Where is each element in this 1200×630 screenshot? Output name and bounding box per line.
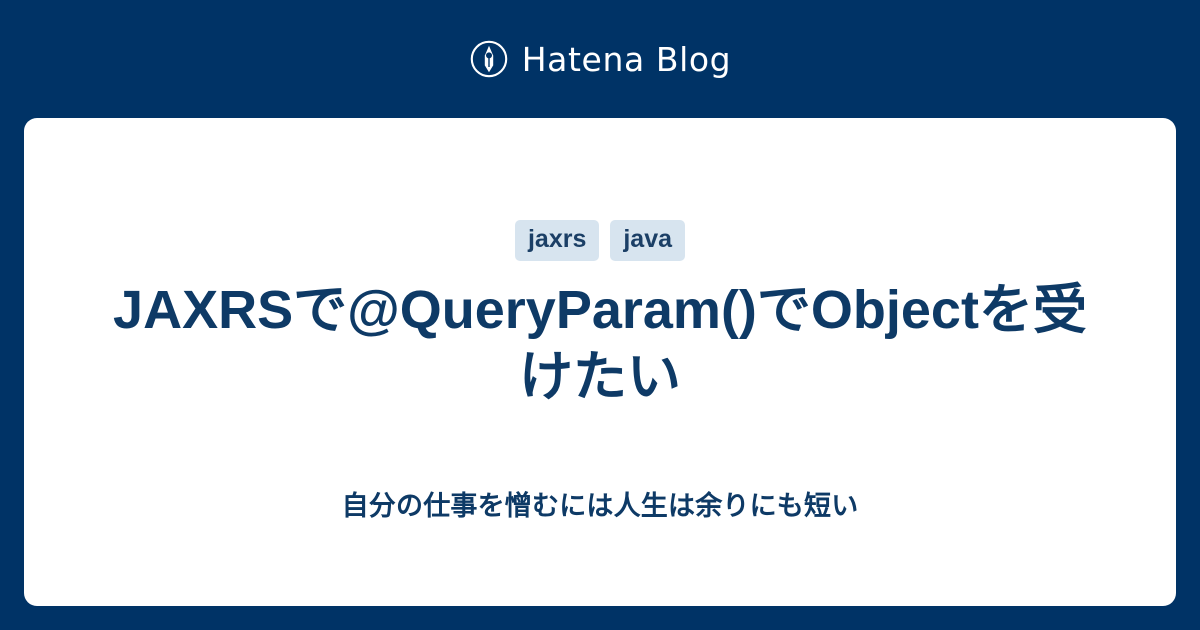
entry-tag-jaxrs[interactable]: jaxrs: [515, 220, 599, 261]
blog-subtitle: 自分の仕事を憎むには人生は余りにも短い: [302, 489, 899, 524]
fountain-pen-nib-circle-icon: [469, 39, 509, 79]
entry-title: JAXRSで@QueryParam()でObjectを受けたい: [40, 277, 1160, 411]
entry-tag-list: jaxrs java: [515, 220, 685, 261]
brand-name: Hatena Blog: [522, 43, 731, 76]
entry-card: jaxrs java JAXRSで@QueryParam()でObjectを受け…: [24, 118, 1176, 606]
hatena-blog-logo-lockup[interactable]: Hatena Blog: [469, 39, 731, 79]
entry-card-content: jaxrs java JAXRSで@QueryParam()でObjectを受け…: [24, 118, 1176, 524]
brand-header: Hatena Blog: [0, 0, 1200, 118]
entry-tag-java[interactable]: java: [610, 220, 685, 261]
